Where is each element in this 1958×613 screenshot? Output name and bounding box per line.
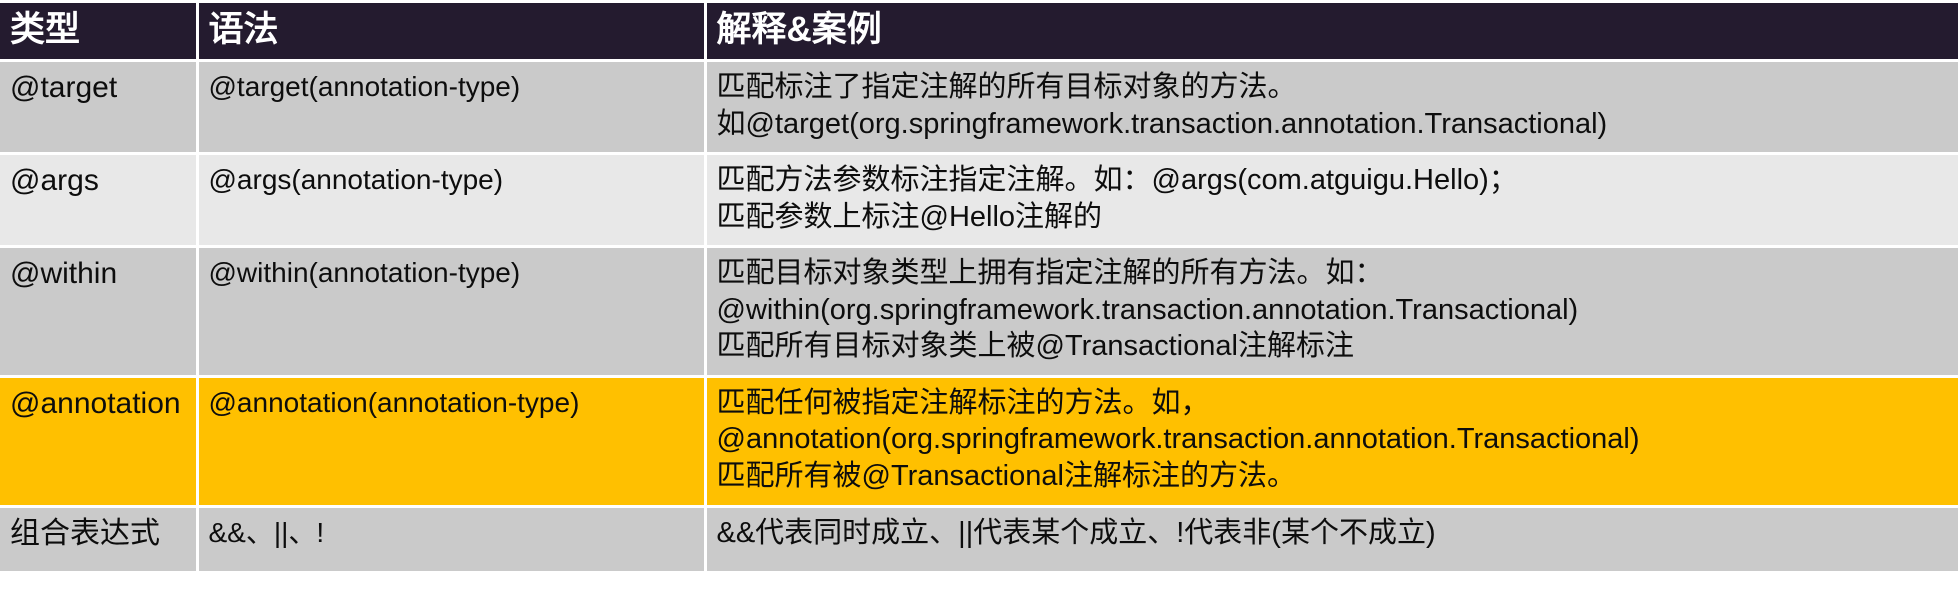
table-row: @target @target(annotation-type) 匹配标注了指定…	[0, 61, 1958, 154]
description-line: 匹配目标对象类型上拥有指定注解的所有方法。如：	[717, 255, 1949, 292]
cell-type: @args	[0, 154, 197, 247]
description-line: 匹配方法参数标注指定注解。如：@args(com.atguigu.Hello)；	[717, 162, 1949, 199]
aspect-syntax-table: 类型 语法 解释&案例 @target @target(annotation-t…	[0, 0, 1958, 574]
description-line: @within(org.springframework.transaction.…	[717, 292, 1949, 329]
description-line: 匹配参数上标注@Hello注解的	[717, 199, 1949, 236]
cell-description: 匹配目标对象类型上拥有指定注解的所有方法。如： @within(org.spri…	[705, 247, 1958, 377]
table-body: @target @target(annotation-type) 匹配标注了指定…	[0, 61, 1958, 572]
description-line: @annotation(org.springframework.transact…	[717, 421, 1949, 458]
description-line: 如@target(org.springframework.transaction…	[717, 106, 1949, 143]
cell-type: @annotation	[0, 376, 197, 506]
table-row: @args @args(annotation-type) 匹配方法参数标注指定注…	[0, 154, 1958, 247]
table-row: @within @within(annotation-type) 匹配目标对象类…	[0, 247, 1958, 377]
cell-syntax: @args(annotation-type)	[197, 154, 705, 247]
cell-type: @within	[0, 247, 197, 377]
header-row: 类型 语法 解释&案例	[0, 2, 1958, 61]
cell-type: 组合表达式	[0, 506, 197, 572]
column-header-syntax: 语法	[197, 2, 705, 61]
cell-description: 匹配任何被指定注解标注的方法。如， @annotation(org.spring…	[705, 376, 1958, 506]
cell-type: @target	[0, 61, 197, 154]
column-header-type: 类型	[0, 2, 197, 61]
cell-syntax: &&、||、!	[197, 506, 705, 572]
cell-syntax: @annotation(annotation-type)	[197, 376, 705, 506]
description-line: 匹配任何被指定注解标注的方法。如，	[717, 385, 1949, 422]
cell-description: 匹配标注了指定注解的所有目标对象的方法。 如@target(org.spring…	[705, 61, 1958, 154]
table-row-highlighted: @annotation @annotation(annotation-type)…	[0, 376, 1958, 506]
description-line: 匹配所有被@Transactional注解标注的方法。	[717, 458, 1949, 495]
cell-syntax: @within(annotation-type)	[197, 247, 705, 377]
column-header-description: 解释&案例	[705, 2, 1958, 61]
table-row: 组合表达式 &&、||、! &&代表同时成立、||代表某个成立、!代表非(某个不…	[0, 506, 1958, 572]
table-header: 类型 语法 解释&案例	[0, 2, 1958, 61]
cell-description: 匹配方法参数标注指定注解。如：@args(com.atguigu.Hello)；…	[705, 154, 1958, 247]
cell-syntax: @target(annotation-type)	[197, 61, 705, 154]
description-line: &&代表同时成立、||代表某个成立、!代表非(某个不成立)	[717, 515, 1949, 552]
description-line: 匹配所有目标对象类上被@Transactional注解标注	[717, 328, 1949, 365]
cell-description: &&代表同时成立、||代表某个成立、!代表非(某个不成立)	[705, 506, 1958, 572]
description-line: 匹配标注了指定注解的所有目标对象的方法。	[717, 69, 1949, 106]
